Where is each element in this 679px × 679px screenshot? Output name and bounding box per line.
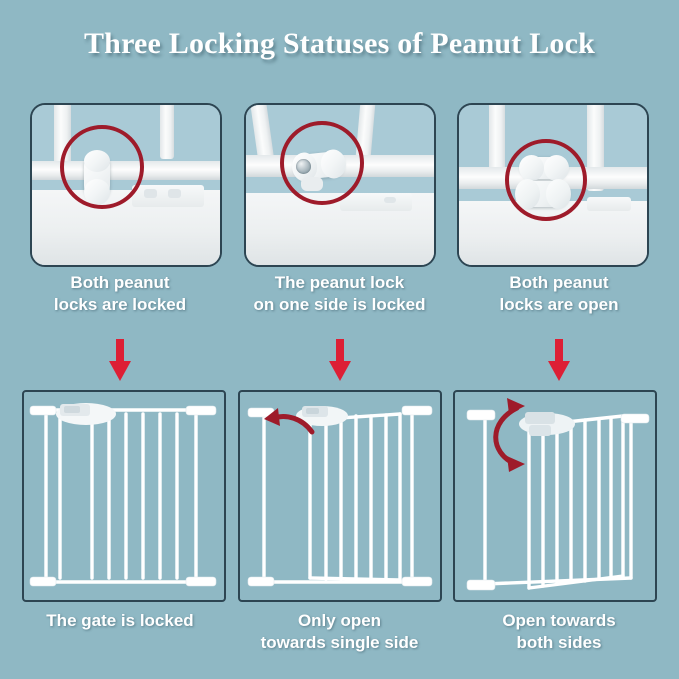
bottom-gate-row [22,390,657,598]
gate-post-right [160,103,174,159]
baby-gate-closed-diagram [24,392,224,600]
page-title: Three Locking Statuses of Peanut Lock [0,27,679,61]
infographic-page: Three Locking Statuses of Peanut Lock [0,0,679,679]
caption-gate-locked: The gate is locked [20,610,220,654]
caption-line-1: The gate is locked [20,610,220,632]
top-photo-row [30,103,649,263]
caption-line-2: locks are locked [20,294,220,316]
peanut-lock-both-locked-photo [32,105,220,265]
gate-latch-handle [56,403,116,425]
down-arrow-icon [329,339,351,381]
swing-direction-arrow-both [496,398,525,472]
peanut-lock-both-open-photo [459,105,647,265]
gate-card-locked [22,390,226,602]
caption-gate-single-side: Only open towards single side [240,610,440,654]
base-bracket [587,197,631,211]
gate-post-left [249,103,273,162]
caption-both-open: Both peanut locks are open [459,272,659,316]
down-arrow-icon [109,339,131,381]
photo-card-both-locked [30,103,222,267]
bracket-slot-2 [168,189,181,198]
caption-line-1: Only open [240,610,440,632]
caption-line-2: locks are open [459,294,659,316]
caption-line-2: towards single side [240,632,440,654]
caption-one-side-locked: The peanut lock on one side is locked [240,272,440,316]
red-circle-highlight [280,121,364,205]
photo-card-both-open [457,103,649,267]
caption-both-locked: Both peanut locks are locked [20,272,220,316]
caption-gate-both-sides: Open towards both sides [459,610,659,654]
arrow-cell-1 [20,338,220,382]
caption-line-1: Open towards [459,610,659,632]
bracket-slot-1 [144,189,157,198]
caption-line-1: Both peanut [459,272,659,294]
arrow-cell-3 [459,338,659,382]
arrow-row [20,338,659,382]
baby-gate-open-one-side-diagram [240,392,440,600]
baby-gate-open-both-sides-diagram [455,392,655,600]
wall-mount-hardware [30,406,216,586]
down-arrow-icon [548,339,570,381]
arrow-cell-2 [240,338,440,382]
red-circle-highlight [60,125,144,209]
caption-line-2: on one side is locked [240,294,440,316]
gate-card-single-side [238,390,442,602]
bracket-slot-1 [384,197,396,203]
caption-line-1: Both peanut [20,272,220,294]
caption-line-2: both sides [459,632,659,654]
top-caption-row: Both peanut locks are locked The peanut … [20,272,659,316]
photo-card-one-side-locked [244,103,436,267]
bottom-caption-row: The gate is locked Only open towards sin… [20,610,659,654]
caption-line-1: The peanut lock [240,272,440,294]
peanut-lock-one-side-locked-photo [246,105,434,265]
red-circle-highlight [505,139,587,221]
gate-card-both-sides [453,390,657,602]
base-bracket [340,193,412,211]
